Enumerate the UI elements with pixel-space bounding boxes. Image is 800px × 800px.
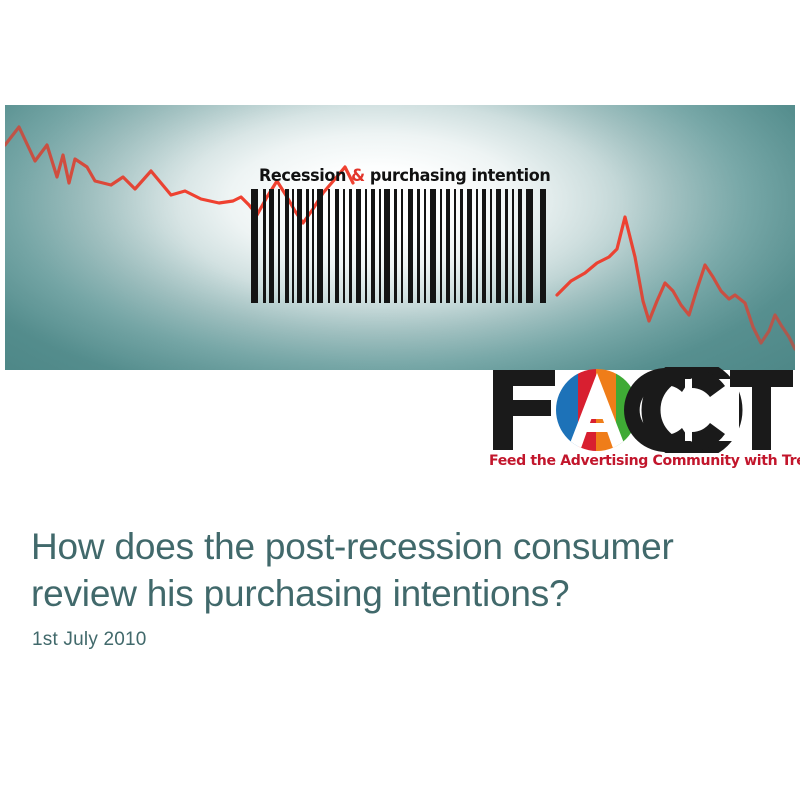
barcode-title-ampersand: & [351, 166, 365, 185]
logo-letter-f [493, 370, 555, 450]
barcode-title-part-1: Recession [259, 166, 351, 185]
banner-image: Recession & purchasing intention [5, 105, 795, 370]
slide-root: Recession & purchasing intention [0, 0, 800, 800]
slide-date: 1st July 2010 [32, 627, 147, 653]
fact-wordmark [487, 367, 795, 453]
barcode-graphic: Recession & purchasing intention [245, 163, 555, 303]
barcode-title-part-2: purchasing intention [365, 166, 551, 185]
fact-logo: Feed the Advertising Community with Tren… [487, 367, 795, 479]
page-title-line-2: review his purchasing intentions? [31, 570, 761, 617]
chart-line-right [557, 217, 795, 349]
logo-tagline: Feed the Advertising Community with Tren… [489, 453, 790, 469]
logo-letter-c [624, 368, 739, 452]
barcode-title: Recession & purchasing intention [259, 163, 538, 189]
barcode-bars [245, 189, 555, 303]
page-title-line-1: How does the post-recession consumer [31, 523, 761, 570]
page-title: How does the post-recession consumer rev… [31, 523, 761, 617]
